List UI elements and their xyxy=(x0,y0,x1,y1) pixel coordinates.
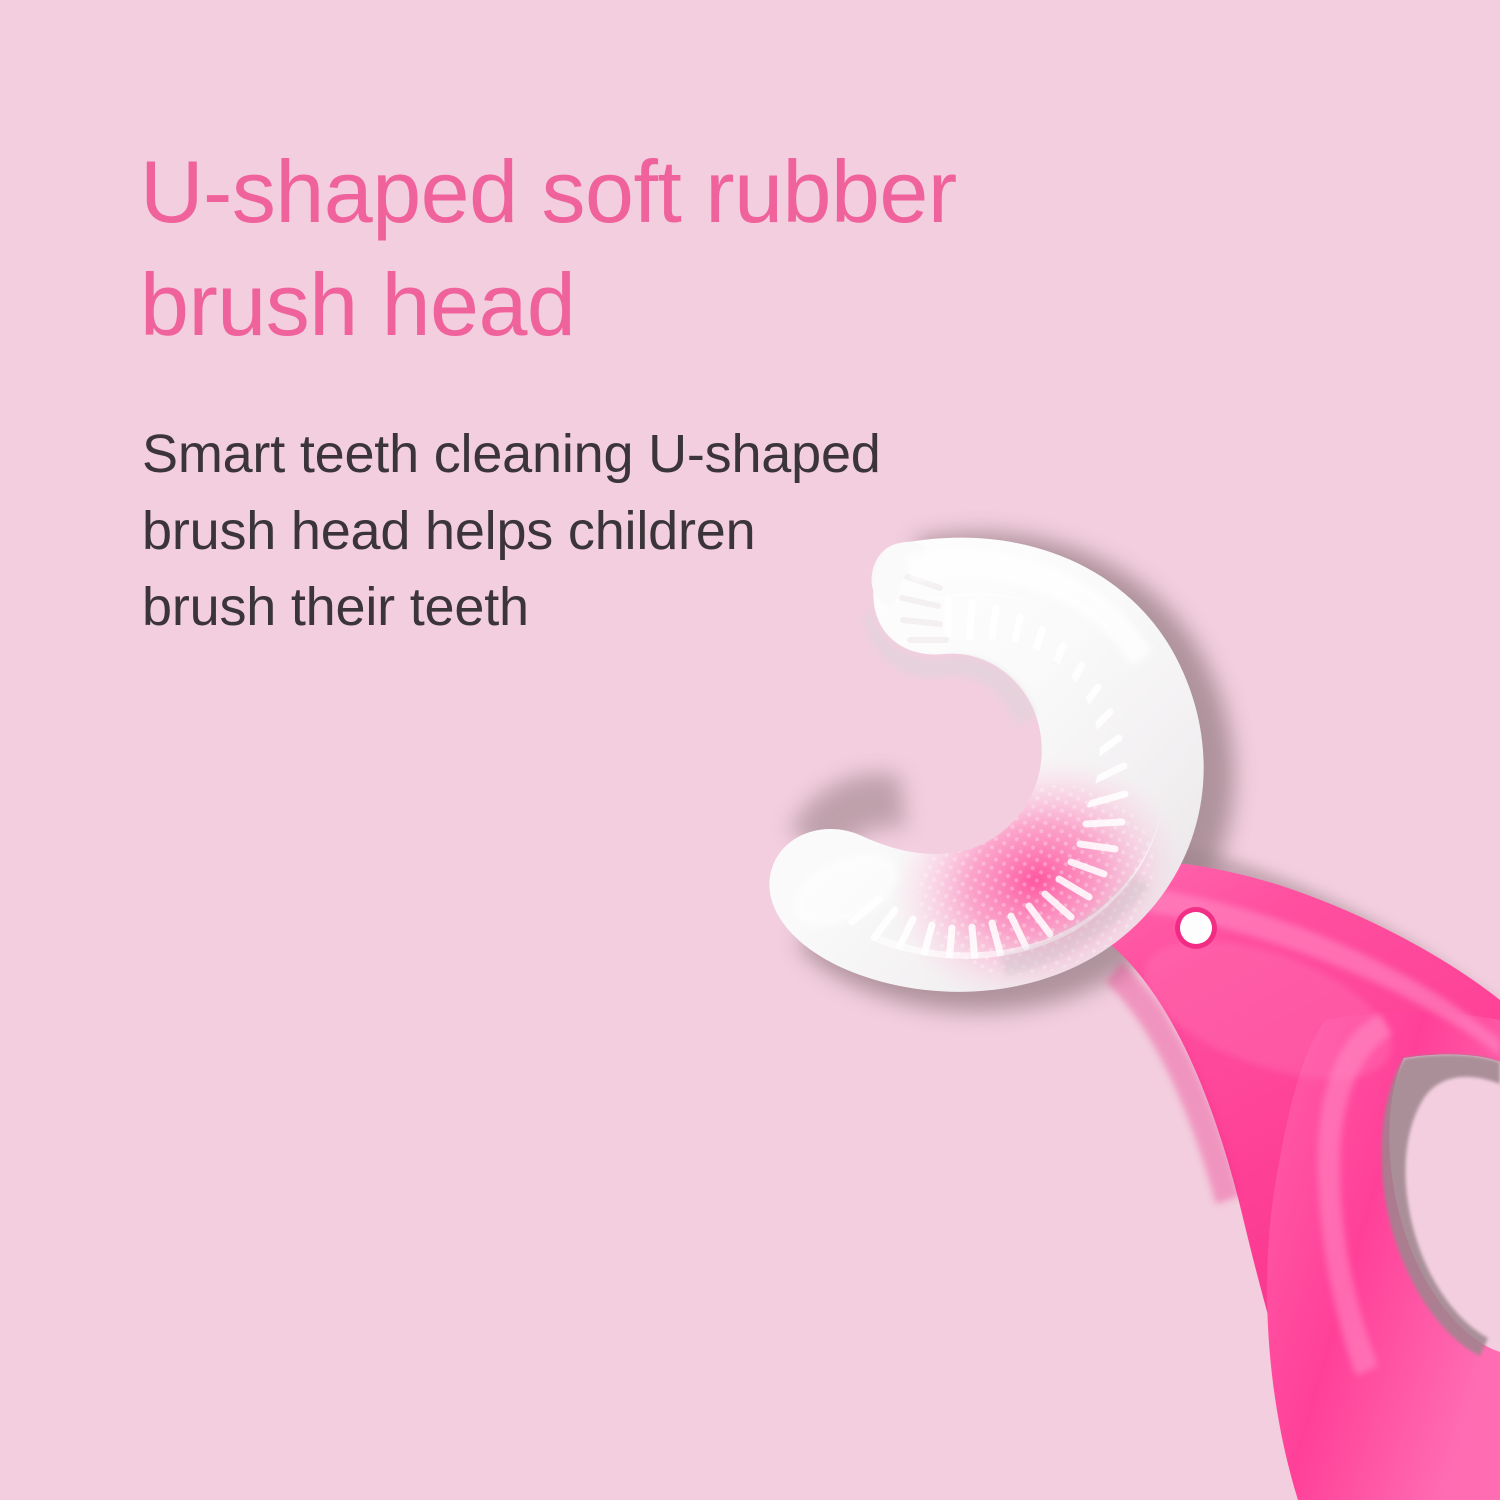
bristle-ridges xyxy=(852,591,1170,962)
handle-rivet xyxy=(1175,907,1217,949)
product-marketing-image: U-shaped soft rubber brush head Smart te… xyxy=(0,0,1500,1500)
product-description: Smart teeth cleaning U-shaped brush head… xyxy=(142,416,1042,646)
toothbrush-handle xyxy=(1078,860,1500,1500)
page-title: U-shaped soft rubber brush head xyxy=(140,136,1140,361)
